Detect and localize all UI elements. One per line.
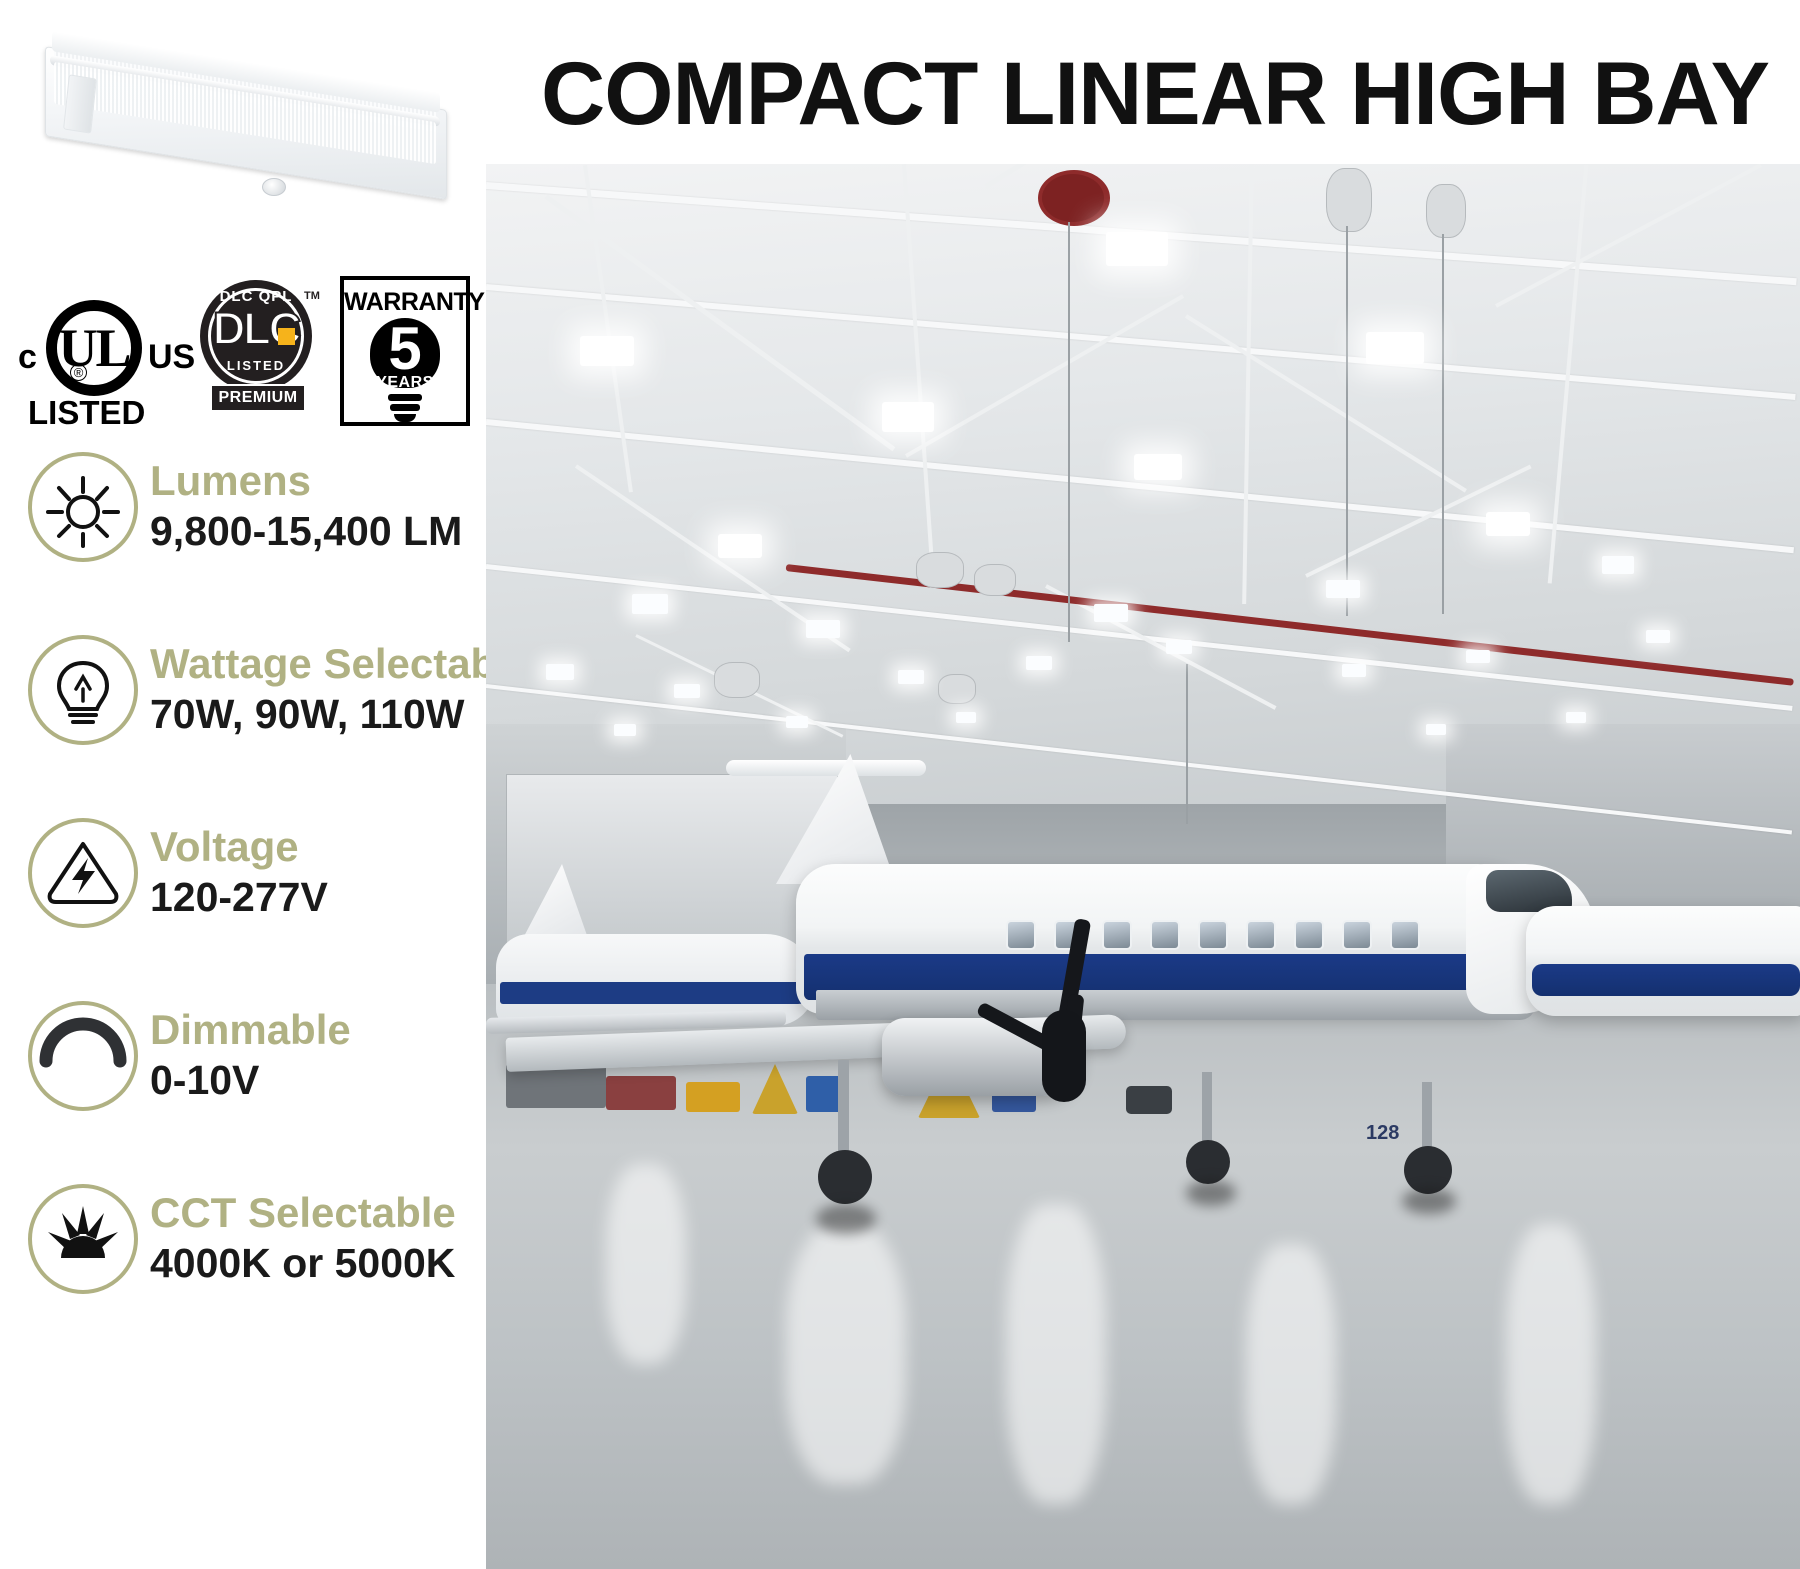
warranty-title: WARRANTY — [344, 288, 466, 317]
dlc-listed-text: LISTED — [200, 358, 312, 373]
ceiling-led-fixture — [956, 712, 976, 723]
aircraft-belly — [816, 990, 1536, 1020]
ceiling-led-fixture — [1366, 332, 1424, 364]
spec-value: 70W, 90W, 110W — [150, 689, 480, 739]
spec-value: 4000K or 5000K — [150, 1238, 480, 1288]
page-title: COMPACT LINEAR HIGH BAY — [520, 38, 1790, 148]
aircraft-cabin-window — [1150, 920, 1180, 950]
far-aircraft-fuselage — [1526, 906, 1800, 1016]
aircraft-cabin-window — [1342, 920, 1372, 950]
ceiling-led-fixture — [1106, 232, 1168, 266]
ceiling-led-fixture — [1134, 454, 1182, 480]
ceiling-led-fixture — [1026, 656, 1052, 670]
product-marketing-page: COMPACT LINEAR HIGH BAY c UL ® US LISTED — [0, 0, 1800, 1569]
ground-equipment-cart — [606, 1076, 676, 1110]
ul-registered-symbol: ® — [70, 364, 87, 381]
ceiling-led-fixture — [1166, 640, 1192, 654]
dlc-yellow-square-icon — [278, 328, 295, 345]
ceiling-drum-reel — [714, 662, 760, 698]
ceiling-led-fixture — [806, 620, 840, 638]
certification-badge-row: c UL ® US LISTED DLC QPL DLC LISTED PREM… — [0, 268, 480, 428]
aircraft-jack-stand — [1126, 1086, 1172, 1114]
ul-listed-label: LISTED — [28, 394, 145, 432]
ceiling-led-fixture — [1646, 630, 1670, 643]
dlc-qpl-premium-badge: DLC QPL DLC LISTED PREMIUM TM — [192, 274, 322, 422]
spec-label: Wattage Selectable — [150, 639, 480, 689]
fixture-mounting-bracket — [63, 74, 97, 134]
dimmer-arc-icon — [28, 1001, 138, 1111]
floor-light-reflection — [1006, 1204, 1106, 1504]
ul-prefix-c: c — [18, 338, 37, 377]
voltage-bolt-triangle-icon — [28, 818, 138, 928]
aircraft-main-gear-wheel — [818, 1150, 872, 1204]
spec-row-lumens: Lumens 9,800-15,400 LM — [28, 452, 480, 570]
aircraft-floor-shadow — [1186, 1180, 1236, 1206]
ceiling-led-fixture — [632, 594, 668, 614]
product-fixture-image — [40, 48, 460, 198]
floor-light-reflection — [786, 1224, 906, 1484]
aircraft-cabin-window — [1246, 920, 1276, 950]
hose-reel-drum — [1042, 174, 1104, 222]
ceiling-led-fixture — [1094, 604, 1128, 622]
drop-cord — [1186, 664, 1188, 824]
aircraft-floor-shadow — [1402, 1188, 1456, 1214]
spec-row-dimmable: Dimmable 0-10V — [28, 1001, 480, 1119]
spec-label: CCT Selectable — [150, 1188, 480, 1238]
spec-text-dimmable: Dimmable 0-10V — [150, 1005, 480, 1105]
aircraft-cabin-window — [1102, 920, 1132, 950]
warranty-bulb-base-2 — [390, 404, 420, 411]
ul-suffix-us: US — [148, 338, 195, 377]
left-spec-column: c UL ® US LISTED DLC QPL DLC LISTED PREM… — [0, 0, 480, 1569]
ceiling-led-fixture — [1342, 664, 1366, 677]
ceiling-led-fixture — [1566, 712, 1586, 723]
spec-value: 120-277V — [150, 872, 480, 922]
spec-text-voltage: Voltage 120-277V — [150, 822, 480, 922]
aircraft-propeller-hub — [1042, 1010, 1086, 1102]
spec-text-wattage: Wattage Selectable 70W, 90W, 110W — [150, 639, 480, 739]
ceiling-led-fixture — [898, 670, 924, 684]
ceiling-led-fixture — [1326, 580, 1360, 598]
spec-value: 9,800-15,400 LM — [150, 506, 480, 556]
fixture-sensor-port — [262, 178, 286, 196]
floor-light-reflection — [1246, 1244, 1336, 1504]
spec-label: Lumens — [150, 456, 480, 506]
ceiling-led-fixture — [1466, 650, 1490, 663]
ceiling-drum-reel — [1326, 168, 1372, 232]
spec-row-cct: CCT Selectable 4000K or 5000K — [28, 1184, 480, 1302]
spec-row-wattage: Wattage Selectable 70W, 90W, 110W — [28, 635, 480, 753]
aircraft-cabin-window — [1006, 920, 1036, 950]
warranty-bulb-base-3 — [394, 414, 416, 422]
ceiling-led-fixture — [614, 724, 636, 736]
cct-sunburst-icon — [28, 1184, 138, 1294]
light-bulb-icon — [28, 635, 138, 745]
ul-listed-badge: c UL ® US LISTED — [18, 290, 198, 422]
warranty-bulb-base-1 — [388, 394, 422, 401]
aircraft-main-gear-strut — [838, 1060, 849, 1164]
ceiling-led-fixture — [882, 402, 934, 432]
ceiling-drum-reel — [916, 552, 964, 588]
sun-rays-icon — [28, 452, 138, 562]
ground-equipment-cart — [686, 1082, 740, 1112]
aircraft-tail-number: 128 — [1366, 1122, 1399, 1145]
aircraft-cabin-window — [1390, 920, 1420, 950]
aircraft-hangar-application-photo: 128 — [486, 164, 1800, 1569]
spec-label: Dimmable — [150, 1005, 480, 1055]
floor-light-reflection — [1506, 1224, 1596, 1504]
aircraft-cabin-window — [1198, 920, 1228, 950]
drop-cord — [1346, 226, 1348, 616]
ceiling-led-fixture — [718, 534, 762, 558]
dlc-mark-letters: DLC — [200, 306, 312, 351]
ceiling-drum-reel — [1426, 184, 1466, 238]
aircraft-cabin-window — [1294, 920, 1324, 950]
ceiling-led-fixture — [546, 664, 574, 680]
spec-label: Voltage — [150, 822, 480, 872]
warranty-years-label: YEARS — [370, 374, 440, 392]
drop-cord — [1442, 234, 1444, 614]
aircraft-nose-gear-wheel — [1404, 1146, 1452, 1194]
spec-text-cct: CCT Selectable 4000K or 5000K — [150, 1188, 480, 1288]
aircraft-horizontal-stabilizer — [726, 760, 926, 776]
dlc-premium-tier-label: PREMIUM — [210, 384, 306, 412]
ceiling-drum-reel — [938, 674, 976, 704]
aircraft-gear-wheel — [1186, 1140, 1230, 1184]
ceiling-led-fixture — [580, 336, 634, 366]
ceiling-led-fixture — [674, 684, 700, 698]
drop-cord — [1068, 222, 1070, 642]
ul-mark-letters: UL — [46, 300, 142, 396]
ceiling-led-fixture — [786, 716, 808, 728]
ceiling-drum-reel — [974, 564, 1016, 596]
far-aircraft-blue-stripe — [1532, 964, 1800, 996]
spec-value: 0-10V — [150, 1055, 480, 1105]
background-aircraft-blue-stripe — [500, 982, 810, 1004]
aircraft-floor-shadow — [816, 1204, 876, 1234]
floor-light-reflection — [606, 1164, 686, 1364]
warranty-badge: WARRANTY 5 YEARS — [340, 276, 470, 426]
ceiling-led-fixture — [1426, 724, 1446, 735]
spec-row-voltage: Voltage 120-277V — [28, 818, 480, 936]
ceiling-led-fixture — [1486, 512, 1530, 536]
spec-text-lumens: Lumens 9,800-15,400 LM — [150, 456, 480, 556]
dlc-trademark-symbol: TM — [304, 290, 320, 302]
ceiling-led-fixture — [1602, 556, 1634, 574]
